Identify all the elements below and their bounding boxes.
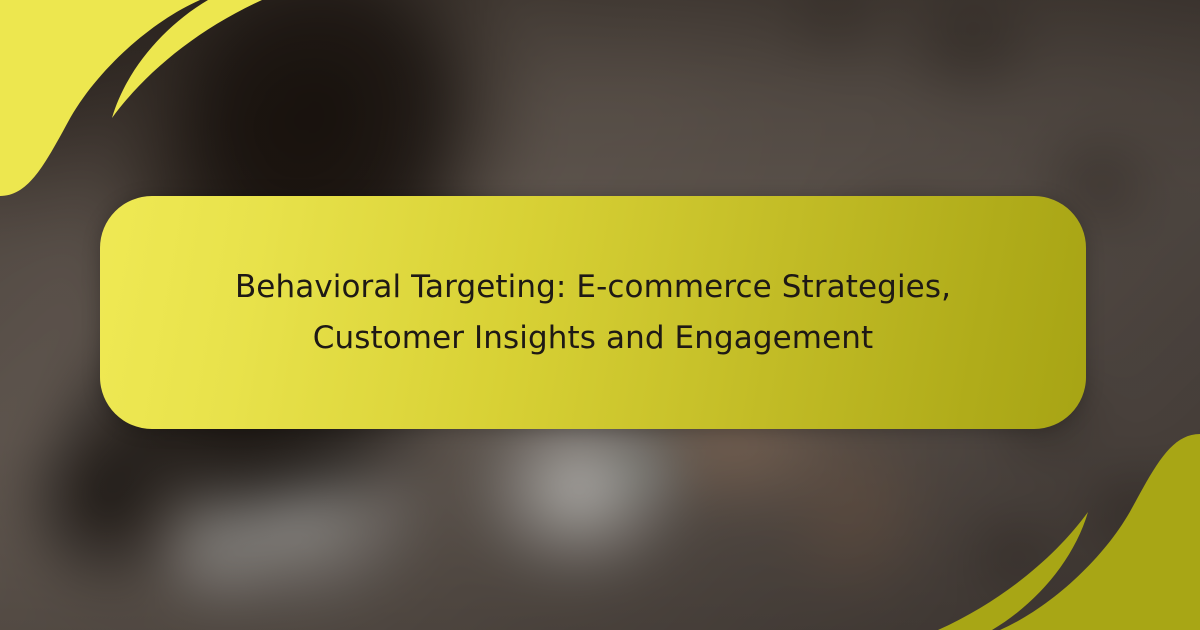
banner-canvas: Behavioral Targeting: E-commerce Strateg…: [0, 0, 1200, 630]
page-title: Behavioral Targeting: E-commerce Strateg…: [193, 262, 993, 363]
title-card: Behavioral Targeting: E-commerce Strateg…: [100, 196, 1086, 429]
